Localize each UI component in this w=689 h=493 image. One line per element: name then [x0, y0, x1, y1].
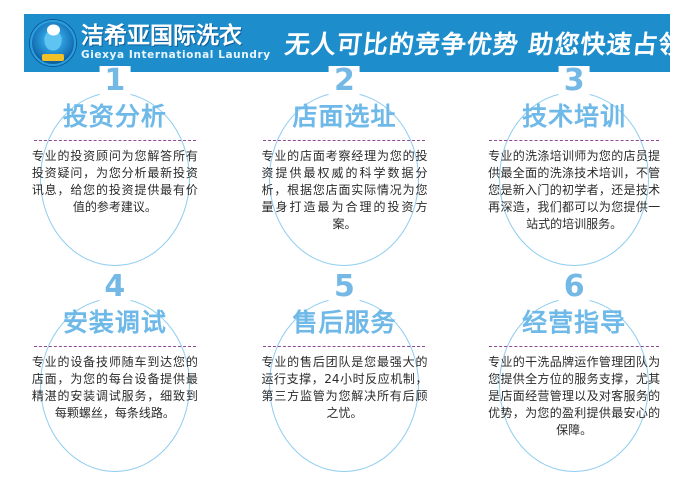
laundry-mascot-badge-icon	[30, 20, 76, 66]
card-divider	[263, 140, 425, 141]
card-body-text: 专业的投资顾问为您解答所有投资疑问，为您分析最新投资讯息，给您的投资提供最有价值…	[32, 148, 198, 216]
service-card-4: 4 安装调试 专业的设备技师随车到达您的店面，为您的每台设备提供最精湛的安装调试…	[0, 284, 230, 490]
card-body-text: 专业的售后团队是您最强大的运行支撑，24小时反应机制，第三方监管为您解决所有后顾…	[261, 354, 427, 422]
badge-ribbon-icon	[42, 54, 64, 61]
brand-logo: 洁希亚国际洗衣 Giexya International Laundry	[30, 20, 271, 66]
mascot-figure-icon	[45, 30, 62, 51]
card-number: 1	[99, 66, 130, 96]
card-title: 技术培训	[522, 104, 626, 129]
card-body-text: 专业的干洗品牌运作管理团队为您提供全方位的服务支撑，尤其是店面经营管理以及对客服…	[488, 354, 660, 439]
card-body-text: 专业的洗涤培训师为您的店员提供最全面的洗涤技术培训，不管您是新入门的初学者，还是…	[488, 148, 660, 233]
card-body-text: 专业的设备技师随车到达您的店面，为您的每台设备提供最精湛的安装调试服务，细致到每…	[32, 354, 198, 422]
banner-slogan: 无人可比的竞争优势 助您快速占领市场	[283, 25, 670, 61]
card-number: 3	[559, 66, 590, 96]
service-card-5: 5 售后服务 专业的售后团队是您最强大的运行支撑，24小时反应机制，第三方监管为…	[230, 284, 460, 490]
service-card-1: 1 投资分析 专业的投资顾问为您解答所有投资疑问，为您分析最新投资讯息，给您的投…	[0, 78, 230, 284]
service-card-grid: 1 投资分析 专业的投资顾问为您解答所有投资疑问，为您分析最新投资讯息，给您的投…	[0, 78, 689, 490]
card-number: 5	[329, 272, 360, 302]
card-title: 安装调试	[63, 310, 167, 335]
card-number: 6	[559, 272, 590, 302]
card-divider	[489, 140, 659, 141]
card-title: 售后服务	[292, 310, 396, 335]
brand-name-en: Giexya International Laundry	[81, 50, 271, 61]
card-number: 4	[99, 272, 130, 302]
service-card-6: 6 经营指导 专业的干洗品牌运作管理团队为您提供全方位的服务支撑，尤其是店面经营…	[459, 284, 689, 490]
card-divider	[34, 140, 196, 141]
service-card-2: 2 店面选址 专业的店面考察经理为您的投资提供最权威的科学数据分析，根据您店面实…	[230, 78, 460, 284]
card-number: 2	[329, 66, 360, 96]
card-title: 店面选址	[292, 104, 396, 129]
card-title: 经营指导	[522, 310, 626, 335]
card-body-text: 专业的店面考察经理为您的投资提供最权威的科学数据分析，根据您店面实际情况为您量身…	[261, 148, 427, 233]
service-card-3: 3 技术培训 专业的洗涤培训师为您的店员提供最全面的洗涤技术培训，不管您是新入门…	[459, 78, 689, 284]
brand-logo-text: 洁希亚国际洗衣 Giexya International Laundry	[81, 25, 271, 61]
card-divider	[34, 346, 196, 347]
brand-name-cn: 洁希亚国际洗衣	[81, 25, 271, 48]
card-divider	[263, 346, 425, 347]
card-divider	[489, 346, 659, 347]
card-title: 投资分析	[63, 104, 167, 129]
